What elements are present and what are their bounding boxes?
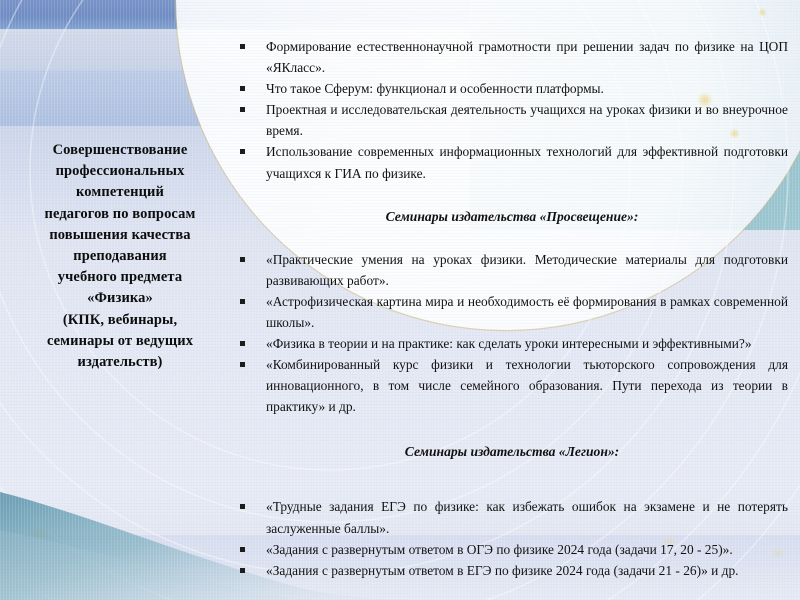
list-item: «Комбинированный курс физики и технологи… (236, 354, 788, 417)
list-item: «Астрофизическая картина мира и необходи… (236, 291, 788, 333)
slide-body: Формирование естественнонаучной грамотно… (236, 36, 788, 581)
list-item: «Задания с развернутым ответом в ЕГЭ по … (236, 560, 788, 581)
title-line: компетенций (14, 182, 226, 203)
title-line: профессиональных (14, 161, 226, 182)
title-line: «Физика» (14, 288, 226, 309)
title-line: (КПК, вебинары, (14, 310, 226, 331)
list-item: «Трудные задания ЕГЭ по физике: как избе… (236, 496, 788, 538)
slide-canvas: Совершенствование профессиональных компе… (0, 0, 800, 600)
list-item: «Физика в теории и на практике: как сдел… (236, 333, 788, 354)
slide-title: Совершенствование профессиональных компе… (14, 140, 226, 373)
title-line: учебного предмета (14, 267, 226, 288)
list-item: Использование современных информационных… (236, 141, 788, 183)
list-item: Что такое Сферум: функционал и особеннос… (236, 78, 788, 99)
list-item: «Задания с развернутым ответом в ОГЭ по … (236, 539, 788, 560)
title-line: издательств) (14, 352, 226, 373)
spacer (236, 417, 788, 441)
spacer (236, 227, 788, 249)
list-item: Формирование естественнонаучной грамотно… (236, 36, 788, 78)
heading-prosveshchenie: Семинары издательства «Просвещение»: (236, 206, 788, 227)
list-item: «Практические умения на уроках физики. М… (236, 249, 788, 291)
slide-content: Совершенствование профессиональных компе… (0, 0, 800, 600)
prosveshchenie-bullet-list: «Практические умения на уроках физики. М… (236, 249, 788, 418)
title-line: семинары от ведущих (14, 331, 226, 352)
title-line: повышения качества (14, 225, 226, 246)
heading-legion: Семинары издательства «Легион»: (236, 441, 788, 462)
list-item: Проектная и исследовательская деятельнос… (236, 99, 788, 141)
spacer (236, 462, 788, 496)
title-line: Совершенствование (14, 140, 226, 161)
intro-bullet-list: Формирование естественнонаучной грамотно… (236, 36, 788, 184)
spacer (236, 184, 788, 206)
legion-bullet-list: «Трудные задания ЕГЭ по физике: как избе… (236, 496, 788, 580)
title-line: преподавания (14, 246, 226, 267)
title-line: педагогов по вопросам (14, 204, 226, 225)
